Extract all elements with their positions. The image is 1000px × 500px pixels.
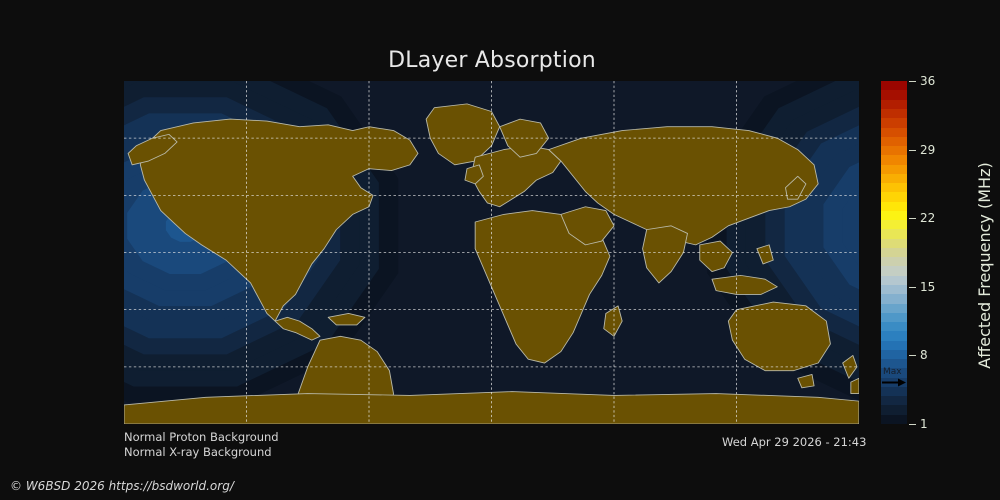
colorbar-tick-label-15: 15 xyxy=(920,280,935,294)
colorbar-band-12 xyxy=(881,304,907,313)
colorbar-tick-1 xyxy=(909,424,916,425)
world-map-panel[interactable] xyxy=(124,81,859,424)
page-title: DLayer Absorption xyxy=(0,48,984,73)
timestamp: Wed Apr 29 2026 - 21:43 xyxy=(722,435,866,449)
colorbar-band-21 xyxy=(881,220,907,229)
colorbar-band-16 xyxy=(881,266,907,275)
colorbar-band-22 xyxy=(881,211,907,220)
colorbar-tick-label-29: 29 xyxy=(920,143,935,157)
colorbar-band-11 xyxy=(881,313,907,322)
colorbar-band-9 xyxy=(881,331,907,340)
xray-background-status: Normal X-ray Background xyxy=(124,445,272,459)
colorbar-band-10 xyxy=(881,322,907,331)
colorbar-tick-36 xyxy=(909,81,916,82)
colorbar-tick-label-36: 36 xyxy=(920,74,935,88)
colorbar-band-1 xyxy=(881,405,907,414)
colorbar[interactable]: Max xyxy=(881,81,907,424)
colorbar-band-4 xyxy=(881,378,907,387)
colorbar-band-8 xyxy=(881,341,907,350)
colorbar-band-34 xyxy=(881,100,907,109)
proton-background-status: Normal Proton Background xyxy=(124,430,279,444)
colorbar-band-27 xyxy=(881,165,907,174)
colorbar-tick-label-1: 1 xyxy=(920,417,928,431)
colorbar-band-19 xyxy=(881,239,907,248)
colorbar-tick-15 xyxy=(909,287,916,288)
colorbar-band-7 xyxy=(881,350,907,359)
colorbar-band-31 xyxy=(881,128,907,137)
colorbar-band-25 xyxy=(881,183,907,192)
colorbar-band-36 xyxy=(881,81,907,90)
colorbar-band-17 xyxy=(881,257,907,266)
colorbar-band-30 xyxy=(881,137,907,146)
colorbar-band-35 xyxy=(881,90,907,99)
colorbar-tick-label-8: 8 xyxy=(920,348,928,362)
colorbar-band-2 xyxy=(881,396,907,405)
copyright-notice: © W6BSD 2026 https://bsdworld.org/ xyxy=(10,479,234,493)
dlayer-absorption-figure: DLayer Absorption xyxy=(0,0,1000,500)
colorbar-band-5 xyxy=(881,368,907,377)
colorbar-band-13 xyxy=(881,294,907,303)
colorbar-band-33 xyxy=(881,109,907,118)
colorbar-band-18 xyxy=(881,248,907,257)
colorbar-band-6 xyxy=(881,359,907,368)
colorbar-band-15 xyxy=(881,276,907,285)
colorbar-band-28 xyxy=(881,155,907,164)
colorbar-band-20 xyxy=(881,229,907,238)
colorbar-band-29 xyxy=(881,146,907,155)
colorbar-band-26 xyxy=(881,174,907,183)
colorbar-axis-label: Affected Frequency (MHz) xyxy=(972,94,998,437)
colorbar-band-32 xyxy=(881,118,907,127)
colorbar-tick-29 xyxy=(909,150,916,151)
colorbar-gradient xyxy=(881,81,907,424)
colorbar-band-14 xyxy=(881,285,907,294)
colorbar-band-23 xyxy=(881,202,907,211)
colorbar-band-24 xyxy=(881,192,907,201)
colorbar-tick-22 xyxy=(909,218,916,219)
colorbar-tick-label-22: 22 xyxy=(920,211,935,225)
colorbar-band-3 xyxy=(881,387,907,396)
colorbar-tick-8 xyxy=(909,355,916,356)
colorbar-band-0 xyxy=(881,415,907,424)
world-map-svg xyxy=(124,81,859,424)
